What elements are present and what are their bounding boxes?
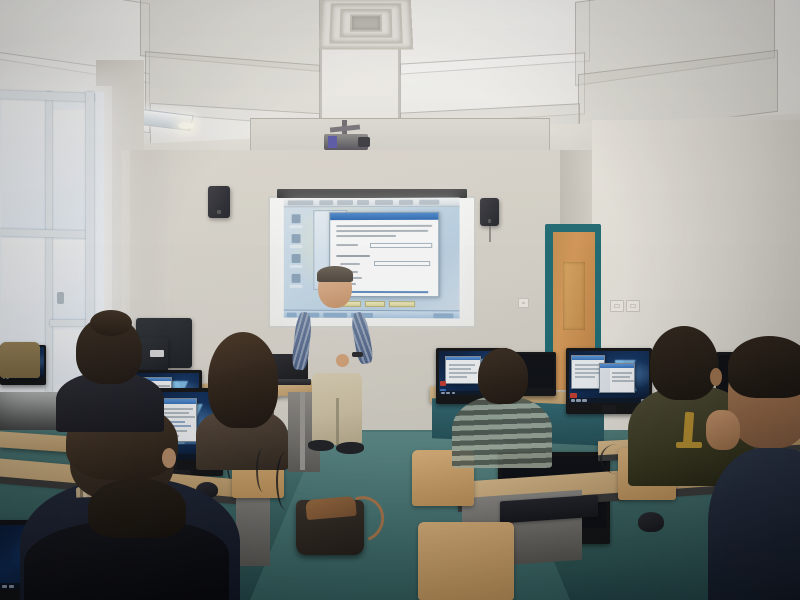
door-panel xyxy=(563,262,585,330)
air-diffuser xyxy=(319,0,414,50)
student-right-varsity-head xyxy=(650,326,718,400)
monitor-stand xyxy=(602,405,616,413)
student-mid-left xyxy=(56,310,166,420)
varsity-jacket-number-serif xyxy=(676,442,702,448)
chair-far-left[interactable] xyxy=(0,342,40,378)
projection-screen-housing xyxy=(277,189,467,198)
desktop-icon xyxy=(440,381,446,386)
projected-desktop-icon xyxy=(292,234,301,243)
student-center xyxy=(452,348,552,458)
wall-socket-2[interactable] xyxy=(626,300,640,312)
student-back-left-hair xyxy=(208,332,278,428)
lecturer xyxy=(296,268,380,458)
floor-cable-2 xyxy=(256,448,270,492)
projected-dialog-field xyxy=(370,243,432,248)
window-handle[interactable] xyxy=(57,292,64,304)
projector-indicator xyxy=(328,136,337,148)
student-right-varsity-ear xyxy=(710,368,722,386)
classroom-photo xyxy=(0,0,800,600)
lecturer-hair xyxy=(317,266,353,282)
projector-lens xyxy=(358,137,370,147)
student-bottom-left xyxy=(24,498,234,600)
lecturer-shoe-left xyxy=(308,440,334,451)
student-right-front-hand xyxy=(706,410,740,450)
floor-cable-1 xyxy=(276,452,296,510)
student-right-front-hair xyxy=(728,336,800,398)
lecturer-wristwatch xyxy=(352,352,363,357)
lecturer-trouser-seam xyxy=(336,398,339,446)
projected-browser-toolbar xyxy=(284,198,460,208)
student-right-front xyxy=(722,330,800,600)
projected-apply-button xyxy=(389,301,415,307)
student-center-shirt xyxy=(452,396,552,468)
ceiling-projector xyxy=(318,120,380,154)
ceiling-downlight xyxy=(178,122,194,129)
mouse-right[interactable] xyxy=(638,512,664,532)
lecturer-shoe-right xyxy=(336,442,364,454)
wall-speaker-right xyxy=(480,198,499,226)
chair-foreground-right[interactable] xyxy=(418,522,514,600)
student-back-left xyxy=(196,332,288,462)
lecturer-hand xyxy=(336,354,349,367)
wall-socket-3[interactable] xyxy=(518,298,529,308)
projected-desktop-icon xyxy=(292,254,301,263)
student-mid-left-hair-bun xyxy=(90,310,132,336)
projected-dialog-field xyxy=(374,261,430,266)
student-right-front-jacket xyxy=(708,448,800,600)
wall-socket-1[interactable] xyxy=(610,300,624,312)
student-front-left-ear xyxy=(162,448,176,468)
projected-dialog-titlebar xyxy=(330,213,438,220)
wall-speaker-left xyxy=(208,186,230,218)
projected-desktop-icon xyxy=(292,214,301,223)
student-center-head xyxy=(478,348,528,404)
speaker-cable xyxy=(489,226,491,242)
student-bottom-left-head xyxy=(88,478,186,538)
